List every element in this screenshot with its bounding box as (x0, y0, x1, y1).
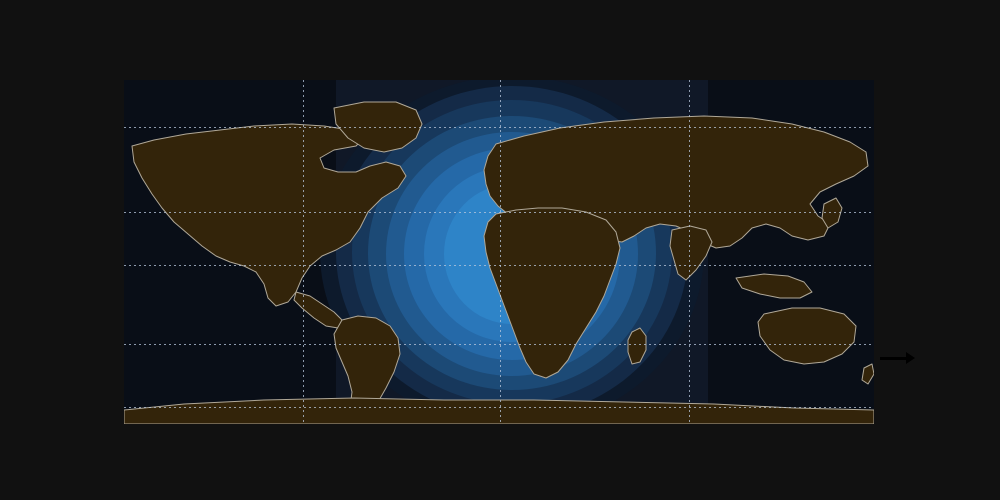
colorbar-max-marker (878, 340, 934, 366)
dlayer-absorption-view (0, 0, 1000, 500)
landmass-central-america (294, 292, 342, 328)
landmass-antarctica (124, 398, 874, 424)
landmass-indonesia (736, 274, 812, 298)
graticule-lon-60e (689, 80, 690, 424)
graticule-lat-30s (124, 344, 874, 345)
landmass-australia (758, 308, 856, 364)
graticule-lat-0 (124, 265, 874, 266)
graticule-lon-0 (500, 80, 501, 424)
graticule-lat-60s (124, 407, 874, 408)
landmass-africa (484, 208, 620, 378)
colorbar[interactable] (877, 80, 899, 424)
landmass-madagascar (628, 328, 646, 364)
graticule-lat-30n (124, 212, 874, 213)
max-arrow-shaft (880, 357, 908, 360)
landmass-japan (822, 198, 842, 228)
graticule-lon-60w (303, 80, 304, 424)
landmass-north-america (132, 124, 406, 306)
coastlines-layer (124, 80, 874, 424)
world-map[interactable] (124, 80, 874, 424)
landmass-india (670, 226, 712, 280)
colorbar-axis-label (928, 80, 952, 424)
graticule-lat-60n (124, 127, 874, 128)
max-arrow-icon (906, 352, 915, 364)
landmass-new-zealand (862, 364, 874, 384)
